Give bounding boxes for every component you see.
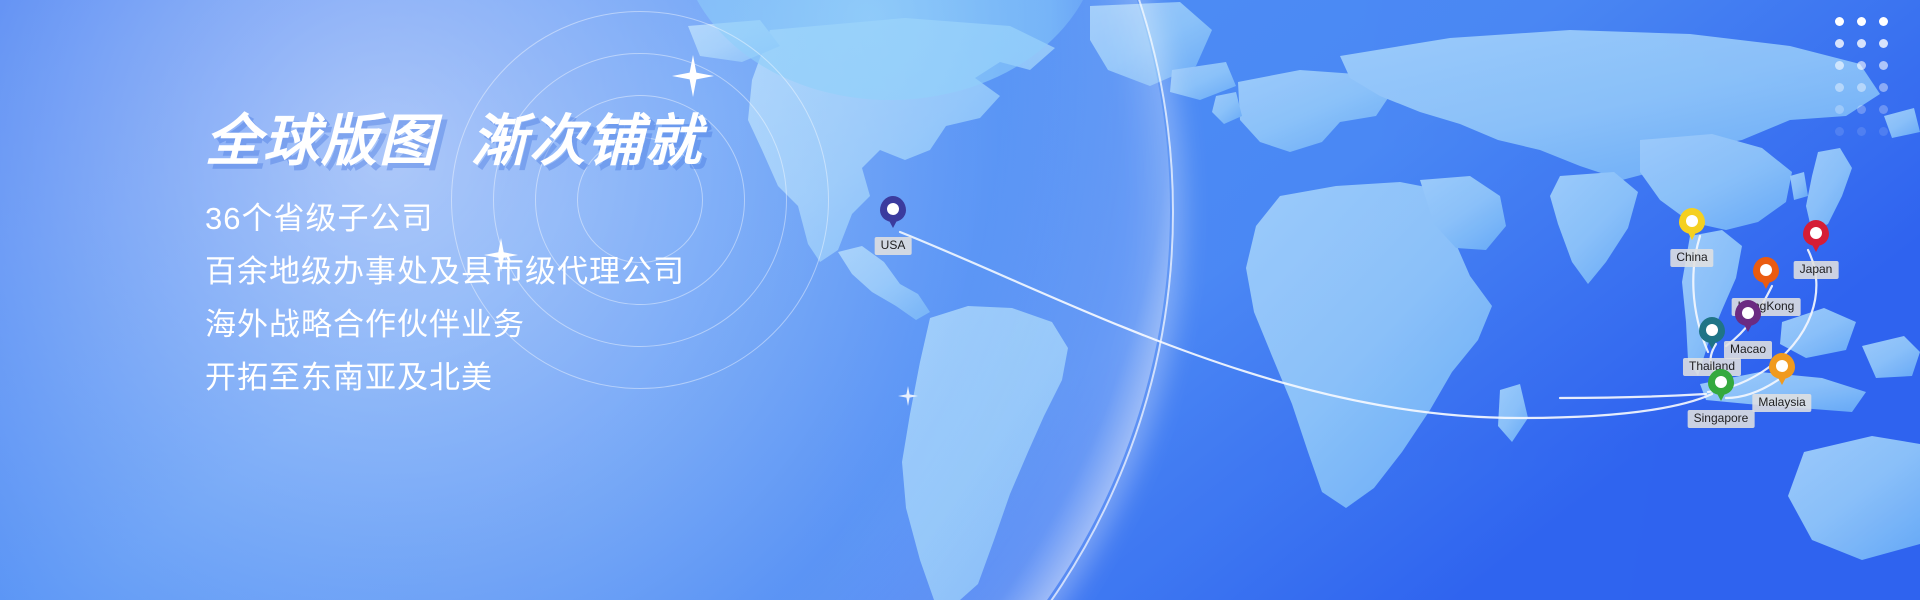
- description-line-1: 36个省级子公司: [205, 197, 703, 242]
- headline-part-2: 渐次铺就: [471, 109, 703, 172]
- headline-part-1: 全球版图: [205, 109, 437, 172]
- copy-block: 全球版图渐次铺就 36个省级子公司 百余地级办事处及县市级代理公司 海外战略合作…: [205, 112, 703, 409]
- page-title: 全球版图渐次铺就: [205, 112, 703, 171]
- description-list: 36个省级子公司 百余地级办事处及县市级代理公司 海外战略合作伙伴业务 开拓至东…: [205, 197, 703, 401]
- description-line-2: 百余地级办事处及县市级代理公司: [205, 250, 703, 295]
- dot-grid-decoration: [1828, 10, 1894, 142]
- description-line-3: 海外战略合作伙伴业务: [205, 303, 703, 348]
- global-map-banner: 全球版图渐次铺就 36个省级子公司 百余地级办事处及县市级代理公司 海外战略合作…: [0, 0, 1920, 600]
- description-line-4: 开拓至东南亚及北美: [205, 356, 703, 401]
